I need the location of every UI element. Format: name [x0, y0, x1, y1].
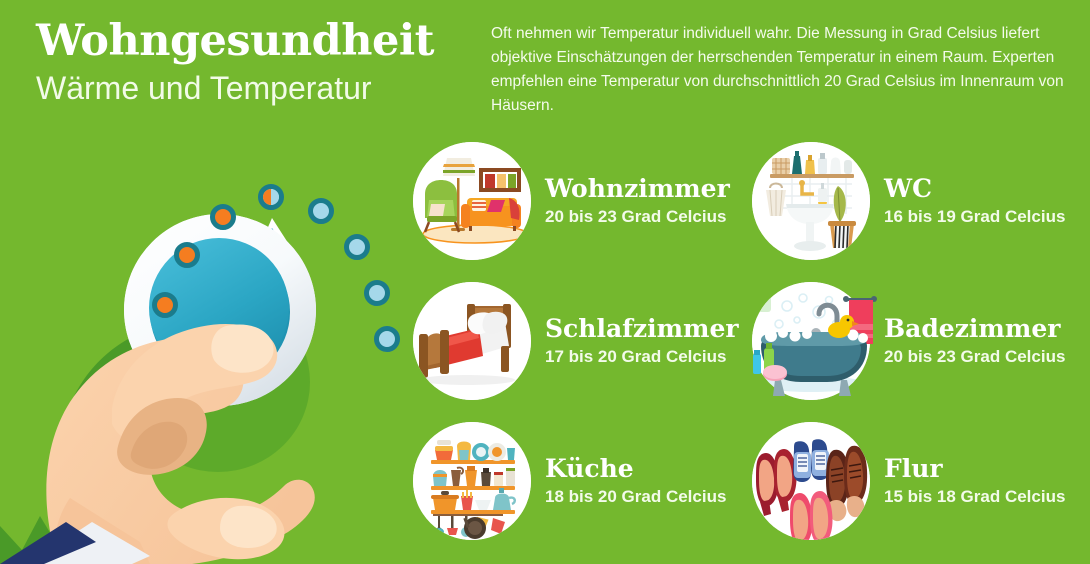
room-text-block: Badezimmer 20 bis 23 Grad Celcius [884, 314, 1065, 369]
room-name: Schlafzimmer [545, 314, 739, 344]
half-orange [263, 189, 271, 205]
room-text-block: Schlafzimmer 17 bis 20 Grad Celcius [545, 314, 739, 369]
arc-dot-blue-4 [374, 326, 400, 352]
infographic-canvas: Wohngesundheit Wärme und Temperatur Oft … [0, 0, 1090, 564]
room-item-badezimmer[interactable]: Badezimmer 20 bis 23 Grad Celcius [752, 282, 1065, 400]
temperature-dots-arc [150, 180, 410, 380]
room-item-wc[interactable]: WC 16 bis 19 Grad Celcius [752, 142, 1065, 260]
intro-paragraph: Oft nehmen wir Temperatur individuell wa… [491, 22, 1085, 118]
room-temperature: 20 bis 23 Grad Celcius [884, 345, 1065, 369]
room-text-block: Wohnzimmer 20 bis 23 Grad Celcius [545, 174, 730, 229]
room-icon-circle [752, 142, 870, 260]
shoes-icon [752, 422, 870, 540]
room-name: Küche [545, 454, 726, 484]
room-temperature: 20 bis 23 Grad Celcius [545, 205, 730, 229]
room-text-block: Küche 18 bis 20 Grad Celcius [545, 454, 726, 509]
room-name: Wohnzimmer [545, 174, 730, 204]
half-blue [271, 189, 279, 205]
room-name: WC [884, 174, 1065, 204]
arc-dot-orange-2 [174, 242, 200, 268]
room-name: Badezimmer [884, 314, 1065, 344]
bed-icon [413, 282, 531, 400]
room-icon-circle [413, 282, 531, 400]
arc-dot-blue-2 [344, 234, 370, 260]
room-item-wohnzimmer[interactable]: Wohnzimmer 20 bis 23 Grad Celcius [413, 142, 730, 260]
room-icon-circle [413, 422, 531, 540]
bathtub-icon [741, 278, 881, 404]
arc-dot-blue-3 [364, 280, 390, 306]
living-room-icon [413, 142, 531, 260]
room-name: Flur [884, 454, 1065, 484]
room-icon-circle [752, 422, 870, 540]
arc-dot-orange-3 [210, 204, 236, 230]
room-temperature: 15 bis 18 Grad Celcius [884, 485, 1065, 509]
arc-dot-half-orange-blue [258, 184, 284, 210]
page-title: Wohngesundheit [36, 16, 466, 66]
room-text-block: WC 16 bis 19 Grad Celcius [884, 174, 1065, 229]
kitchen-shelf-icon [413, 422, 531, 540]
room-item-schlafzimmer[interactable]: Schlafzimmer 17 bis 20 Grad Celcius [413, 282, 739, 400]
arc-dot-blue-1 [308, 198, 334, 224]
room-temperature: 18 bis 20 Grad Celcius [545, 485, 726, 509]
room-temperature: 16 bis 19 Grad Celcius [884, 205, 1065, 229]
room-icon-circle [752, 282, 870, 400]
room-text-block: Flur 15 bis 18 Grad Celcius [884, 454, 1065, 509]
arc-dot-orange-1 [152, 292, 178, 318]
room-icon-circle [413, 142, 531, 260]
hand-holding-thermostat-illustration [0, 150, 410, 564]
room-item-kueche[interactable]: Küche 18 bis 20 Grad Celcius [413, 422, 726, 540]
room-item-flur[interactable]: Flur 15 bis 18 Grad Celcius [752, 422, 1065, 540]
page-subtitle: Wärme und Temperatur [36, 68, 466, 108]
header-title-block: Wohngesundheit Wärme und Temperatur [36, 16, 466, 108]
wc-sink-icon [752, 142, 870, 260]
room-temperature: 17 bis 20 Grad Celcius [545, 345, 739, 369]
